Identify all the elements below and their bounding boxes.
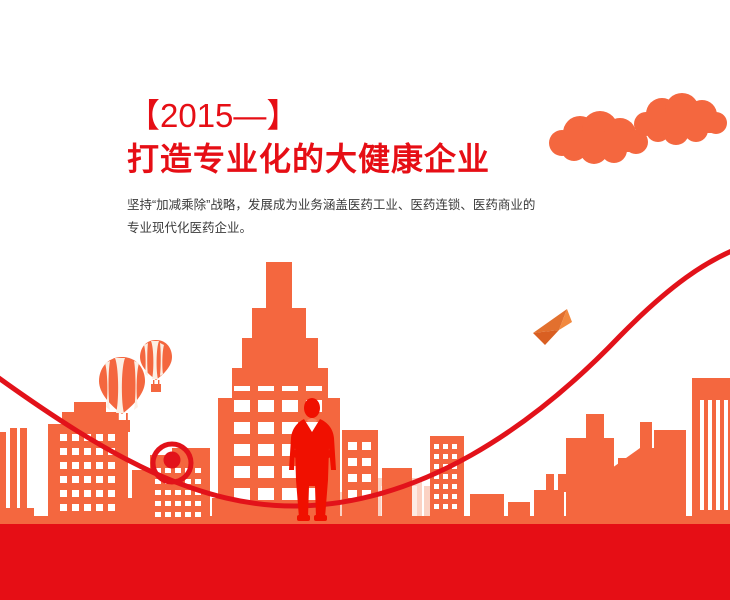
slide-canvas: 【2015—】 打造专业化的大健康企业 坚持“加减乘除”战略，发展成为业务涵盖医… bbox=[0, 0, 730, 600]
ground-band bbox=[0, 524, 730, 600]
body-copy: 坚持“加减乘除”战略，发展成为业务涵盖医药工业、医药连锁、医药商业的专业现代化医… bbox=[127, 180, 542, 240]
headline-year: 【2015—】 bbox=[127, 96, 557, 136]
growth-curve-icon bbox=[0, 250, 730, 506]
target-marker-icon bbox=[153, 444, 191, 482]
page-title: 打造专业化的大健康企业 bbox=[127, 136, 557, 180]
paper-plane-icon bbox=[533, 309, 572, 345]
headline-block: 【2015—】 打造专业化的大健康企业 坚持“加减乘除”战略，发展成为业务涵盖医… bbox=[127, 96, 557, 240]
